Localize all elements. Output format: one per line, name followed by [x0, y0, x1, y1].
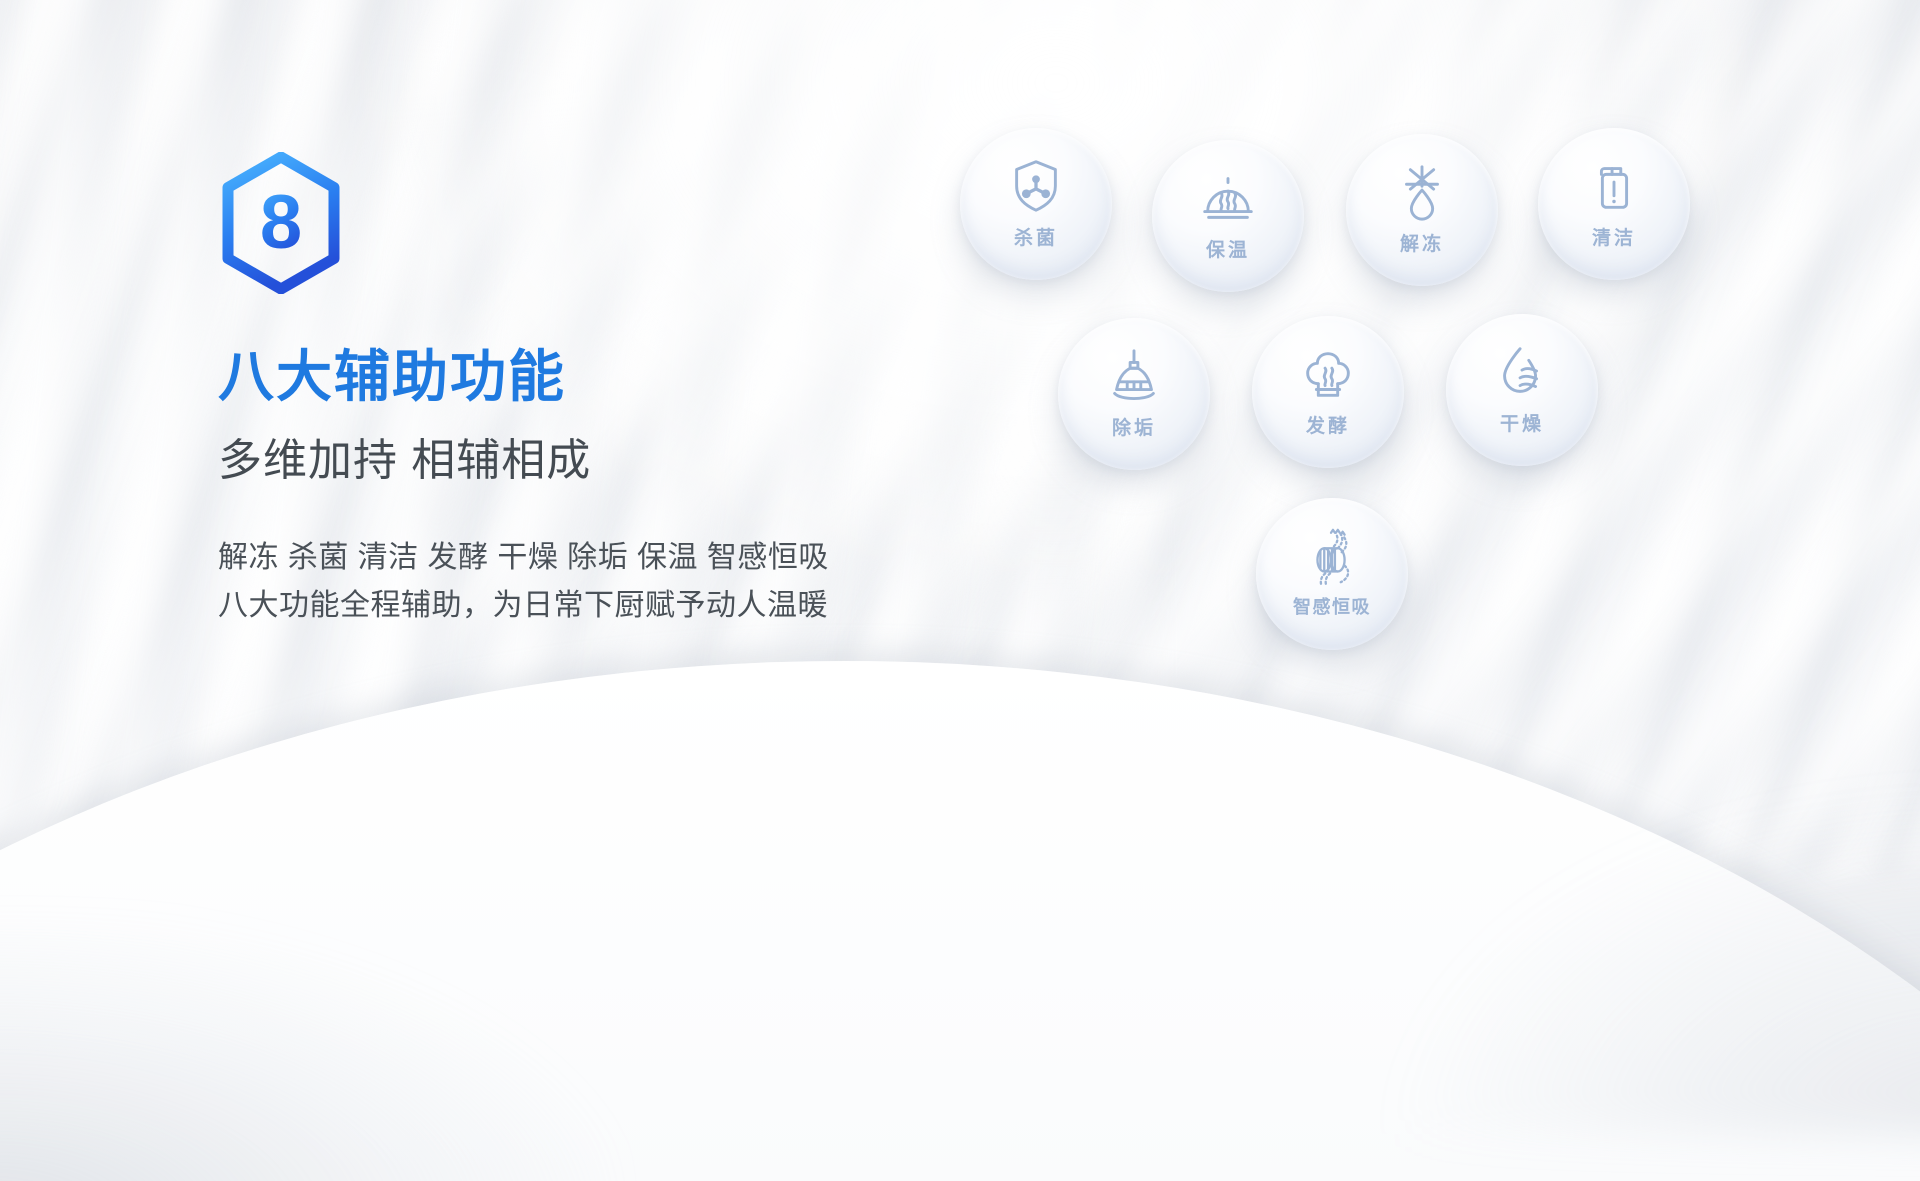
- feature-poster: 8 八大辅助功能 多维加持 相辅相成 解冻 杀菌 清洁 发酵 干燥 除垢 保温 …: [0, 0, 1920, 1181]
- snowflake-droplet-icon: [1391, 161, 1453, 223]
- background-ribbon-1: [0, 661, 1920, 1181]
- page-title: 八大辅助功能: [218, 346, 978, 409]
- feature-label: 干燥: [1500, 409, 1544, 436]
- bottom-right-shadow: [1382, 779, 1920, 1133]
- feature-label: 发酵: [1306, 411, 1350, 438]
- hexagon-badge-icon: 8: [218, 152, 978, 294]
- shield-germ-icon: [1005, 155, 1067, 217]
- bottom-left-shadow: [0, 921, 614, 1181]
- description-line-2: 八大功能全程辅助，为日常下厨赋予动人温暖: [218, 582, 978, 631]
- page-subtitle: 多维加持 相辅相成: [218, 435, 978, 488]
- background-ribbon-4: [0, 957, 1920, 1181]
- feature-orb-keep-warm[interactable]: 保温: [1152, 140, 1304, 292]
- feature-label: 除垢: [1112, 413, 1156, 440]
- feature-label: 解冻: [1400, 229, 1444, 256]
- description-line-1: 解冻 杀菌 清洁 发酵 干燥 除垢 保温 智感恒吸: [218, 534, 978, 583]
- broom-icon: [1103, 345, 1165, 407]
- feature-orb-descale[interactable]: 除垢: [1058, 318, 1210, 470]
- svg-text:8: 8: [260, 180, 302, 265]
- background-ribbon-3: [0, 856, 1920, 1181]
- droplet-airflow-icon: [1491, 341, 1553, 403]
- feature-icon-cluster: 杀菌 保温: [960, 128, 1720, 708]
- feature-label: 保温: [1206, 235, 1250, 262]
- food-cloche-steam-icon: [1197, 167, 1259, 229]
- feature-orb-ferment[interactable]: 发酵: [1252, 316, 1404, 468]
- feature-label: 清洁: [1592, 223, 1636, 250]
- chef-hat-steam-icon: [1297, 343, 1359, 405]
- headline-block: 8 八大辅助功能 多维加持 相辅相成 解冻 杀菌 清洁 发酵 干燥 除垢 保温 …: [218, 152, 978, 631]
- feature-orb-dry[interactable]: 干燥: [1446, 314, 1598, 466]
- feature-label: 智感恒吸: [1293, 593, 1371, 619]
- detergent-bottle-icon: [1583, 155, 1645, 217]
- background-ribbon-2: [0, 756, 1920, 1181]
- feature-orb-clean[interactable]: 清洁: [1538, 128, 1690, 280]
- description-paragraph: 解冻 杀菌 清洁 发酵 干燥 除垢 保温 智感恒吸 八大功能全程辅助，为日常下厨…: [218, 534, 978, 631]
- feature-orb-sterilize[interactable]: 杀菌: [960, 128, 1112, 280]
- feature-orb-defrost[interactable]: 解冻: [1346, 134, 1498, 286]
- background-ribbon-5: [0, 1063, 1920, 1181]
- feature-orb-smart-suction[interactable]: 智感恒吸: [1256, 498, 1408, 650]
- feature-label: 杀菌: [1014, 223, 1058, 250]
- turbine-airflow-icon: [1301, 525, 1363, 587]
